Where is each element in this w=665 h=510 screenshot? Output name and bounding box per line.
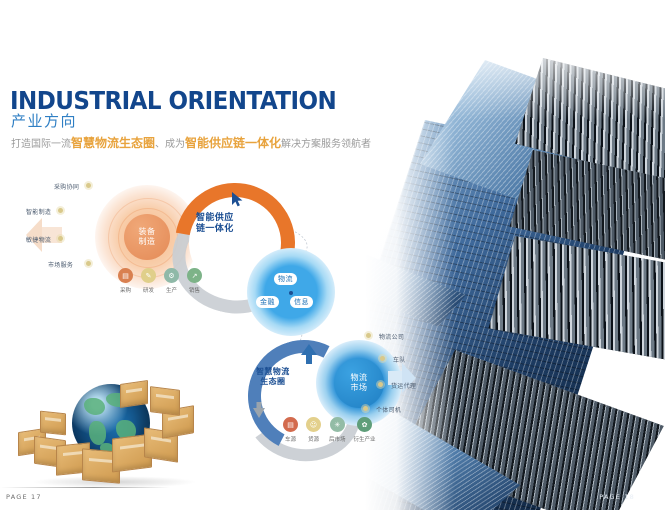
- manufacturing-label-3: 市场服务: [48, 260, 73, 269]
- slide-canvas: INDUSTRIAL ORIENTATION 产业方向 打造国际一流智慧物流生态…: [0, 0, 665, 510]
- icon-label-bottom-2: 后市场: [329, 435, 346, 443]
- market-dot-3: [363, 406, 368, 411]
- manufacturing-dot-3: [86, 261, 91, 266]
- page-title-chinese: 产业方向: [11, 110, 77, 131]
- market-label-0: 物流公司: [379, 332, 404, 341]
- subtitle-highlight-2: 智能供应链一体化: [185, 136, 281, 150]
- page-subtitle: 打造国际一流智慧物流生态圈、成为智能供应链一体化解决方案服务领航者: [11, 136, 371, 152]
- manufacturing-core-line2: 制造: [139, 237, 156, 246]
- service-hub-pill-top: 物流: [274, 273, 297, 285]
- production-icon: ⚙: [164, 268, 179, 283]
- manufacturing-label-1: 智能制造: [26, 207, 51, 216]
- icon-label-bottom-1: 货源: [308, 435, 319, 443]
- subtitle-highlight-1: 智慧物流生态圈: [71, 136, 155, 150]
- ecosystem-arrow-down-icon: [252, 401, 268, 419]
- page-number-right: PAGE 18: [599, 493, 635, 501]
- service-hub-pill-left: 金融: [256, 296, 279, 308]
- supply-chain-line1: 智能供应: [196, 213, 234, 223]
- icon-item-bottom-1[interactable]: ☺ 货源: [306, 417, 321, 443]
- service-hub-center-dot: [289, 291, 293, 295]
- sales-icon: ↗: [187, 268, 202, 283]
- icon-row-top: ▤ 采购 ✎ 研发 ⚙ 生产 ↗ 销售: [118, 268, 202, 294]
- manufacturing-label-2: 敏捷物流: [26, 235, 51, 244]
- market-dot-0: [366, 333, 371, 338]
- icon-item-top-3[interactable]: ↗ 销售: [187, 268, 202, 294]
- supply-chain-label: 智能供应 链一体化: [196, 213, 234, 235]
- aftermarket-icon: ✳: [330, 417, 345, 432]
- page-number-left: PAGE 17: [6, 493, 42, 501]
- ecosystem-arrow-up-icon: [300, 343, 320, 365]
- icon-label-top-0: 采购: [120, 286, 131, 294]
- manufacturing-core[interactable]: 装备 制造: [124, 214, 170, 260]
- vehicle-source-icon: ▤: [283, 417, 298, 432]
- cargo-source-icon: ☺: [306, 417, 321, 432]
- market-label-2: 货运代理: [391, 381, 416, 390]
- manufacturing-core-line1: 装备: [139, 227, 156, 236]
- parcel-box: [120, 380, 148, 408]
- parcel-box: [150, 386, 180, 416]
- icon-label-bottom-3: 衍生产业: [354, 435, 376, 443]
- icon-item-bottom-0[interactable]: ▤ 车源: [283, 417, 298, 443]
- manufacturing-dot-0: [86, 183, 91, 188]
- service-hub-pill-right: 信息: [290, 296, 313, 308]
- derivative-industry-icon: ✿: [357, 417, 372, 432]
- market-core-line1: 物流: [351, 373, 368, 382]
- manufacturing-label-0: 采购协同: [54, 182, 79, 191]
- icon-item-bottom-3[interactable]: ✿ 衍生产业: [354, 417, 376, 443]
- ecosystem-line1: 智慧物流: [256, 367, 290, 376]
- supply-chain-line2: 链一体化: [196, 224, 234, 234]
- footer-rule: [0, 487, 170, 488]
- market-core[interactable]: 物流 市场: [334, 358, 384, 408]
- subtitle-part-3: 解决方案服务领航者: [281, 139, 371, 150]
- market-label-3: 个体司机: [376, 405, 401, 414]
- icon-label-top-2: 生产: [166, 286, 177, 294]
- subtitle-part-1: 打造国际一流: [11, 139, 71, 150]
- ecosystem-line2: 生态圈: [260, 377, 285, 386]
- market-dot-1: [380, 356, 385, 361]
- research-icon: ✎: [141, 268, 156, 283]
- procurement-icon: ▤: [118, 268, 133, 283]
- market-label-1: 车队: [393, 355, 406, 364]
- icon-label-top-1: 研发: [143, 286, 154, 294]
- subtitle-part-2: 、成为: [155, 139, 185, 150]
- market-core-line2: 市场: [351, 383, 368, 392]
- icon-item-bottom-2[interactable]: ✳ 后市场: [329, 417, 346, 443]
- icon-item-top-1[interactable]: ✎ 研发: [141, 268, 156, 294]
- parcel-box: [40, 411, 66, 436]
- icon-item-top-0[interactable]: ▤ 采购: [118, 268, 133, 294]
- globe-parcels-image: [12, 378, 212, 496]
- manufacturing-dot-1: [58, 208, 63, 213]
- market-dot-2: [378, 382, 383, 387]
- icon-label-bottom-0: 车源: [285, 435, 296, 443]
- manufacturing-dot-2: [58, 236, 63, 241]
- icon-item-top-2[interactable]: ⚙ 生产: [164, 268, 179, 294]
- photo-top-fade: [365, 0, 665, 120]
- icon-label-top-3: 销售: [189, 286, 200, 294]
- ecosystem-label: 智慧物流 生态圈: [256, 367, 290, 387]
- icon-row-bottom: ▤ 车源 ☺ 货源 ✳ 后市场 ✿ 衍生产业: [283, 417, 376, 443]
